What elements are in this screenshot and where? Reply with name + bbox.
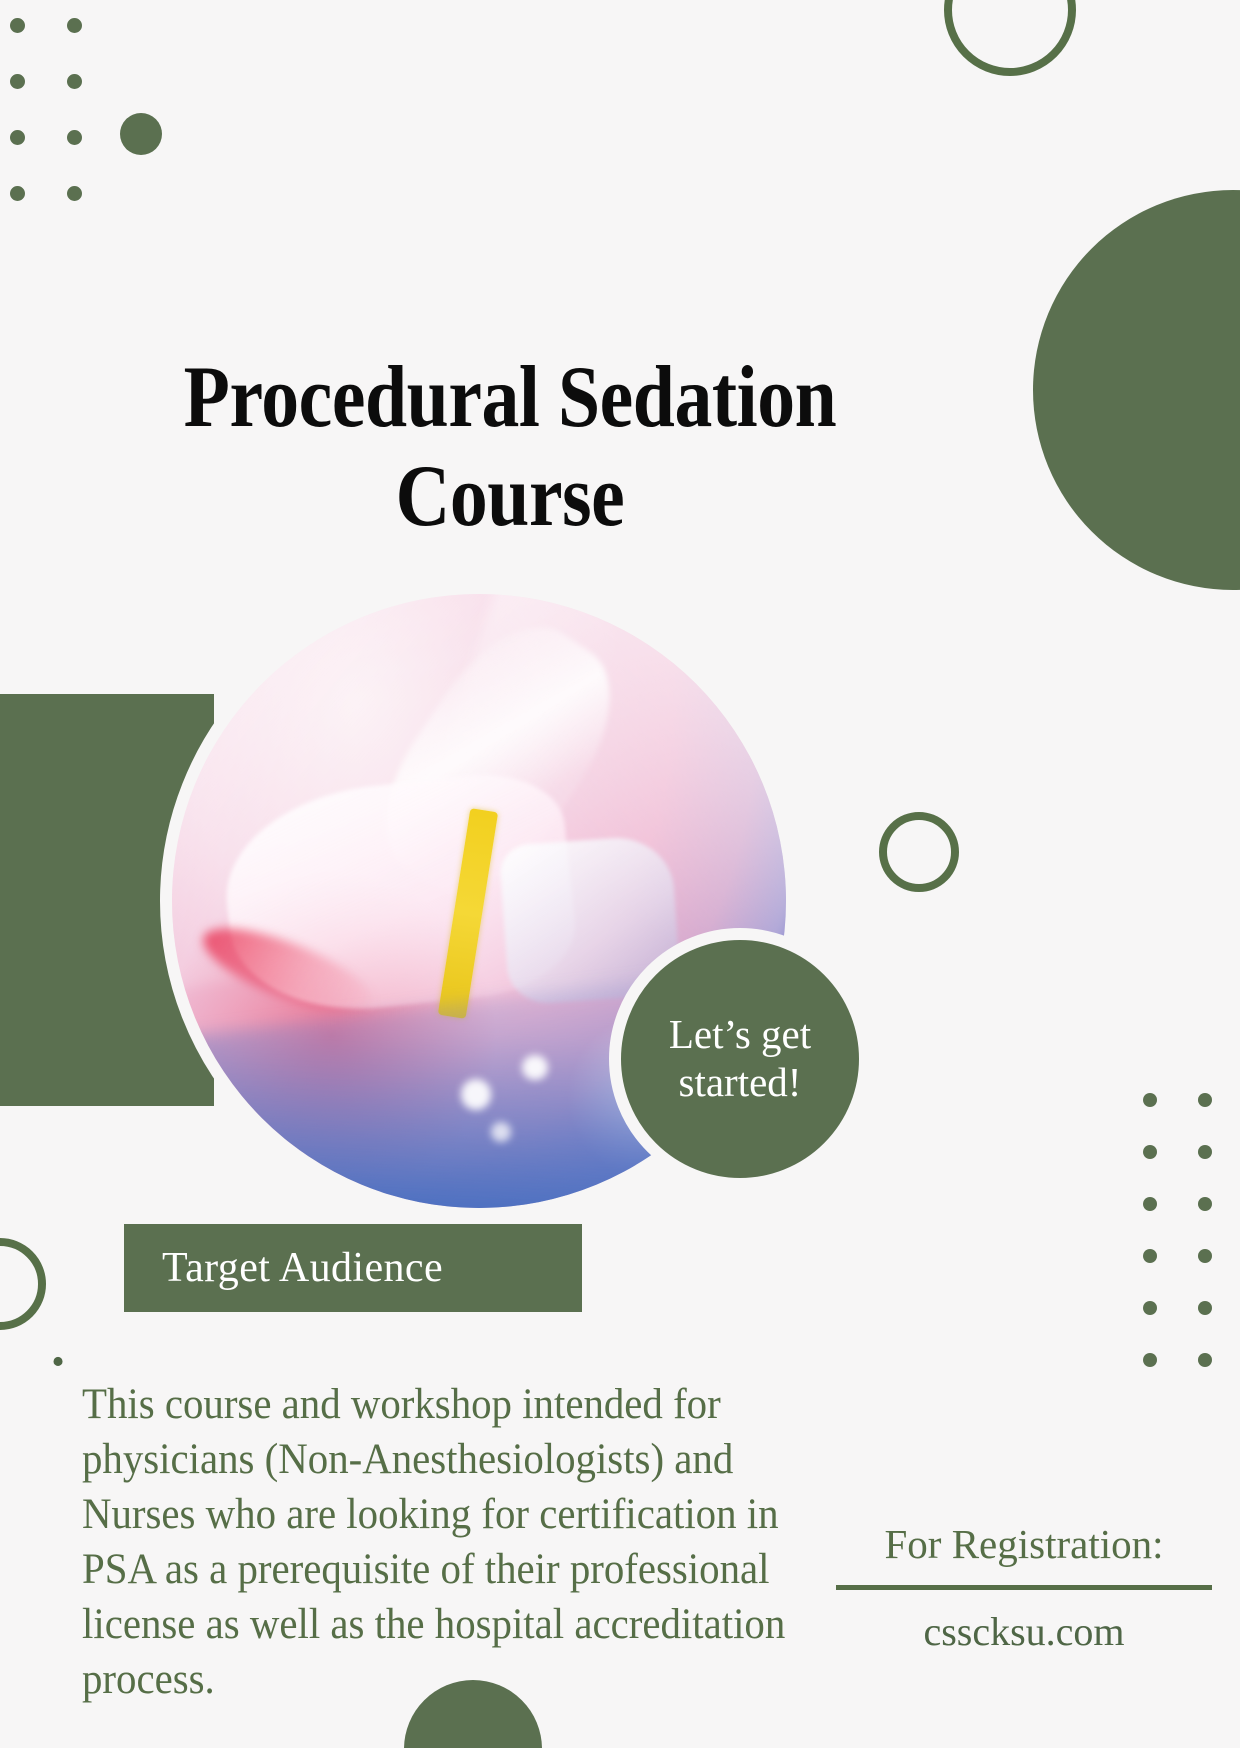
registration-label: For Registration: xyxy=(836,1520,1212,1579)
dot-grid-top-left xyxy=(10,18,124,242)
page-title: Procedural Sedation Course xyxy=(132,349,889,546)
decor-dot xyxy=(67,186,82,201)
decor-circle-top-left xyxy=(120,113,162,155)
decor-dot xyxy=(10,186,25,201)
dot-grid-right xyxy=(1143,1093,1240,1405)
decor-dot xyxy=(1198,1093,1212,1107)
decor-dot xyxy=(67,74,82,89)
decor-dot xyxy=(1198,1197,1212,1211)
decor-ring-right-middle xyxy=(879,812,959,892)
decor-dot xyxy=(1143,1197,1157,1211)
decor-dot xyxy=(1198,1249,1212,1263)
decor-dot xyxy=(67,130,82,145)
bullet-marker-icon: • xyxy=(34,1334,82,1390)
decor-dot xyxy=(10,130,25,145)
registration-block: For Registration: csscksu.com xyxy=(836,1520,1212,1656)
decor-ring-bottom-left xyxy=(0,1238,46,1330)
decor-ring-top-right xyxy=(944,0,1076,76)
decor-dot xyxy=(10,18,25,33)
target-audience-banner: Target Audience xyxy=(124,1224,582,1312)
registration-url[interactable]: csscksu.com xyxy=(836,1608,1212,1656)
registration-divider xyxy=(836,1585,1212,1590)
decor-dot xyxy=(1143,1145,1157,1159)
decor-dot xyxy=(1198,1301,1212,1315)
audience-bullet-item: • This course and workshop intended for … xyxy=(34,1334,834,1748)
decor-dot xyxy=(1198,1145,1212,1159)
lets-get-started-badge[interactable]: Let’s get started! xyxy=(609,928,871,1190)
decor-dot xyxy=(1143,1353,1157,1367)
section-heading: Target Audience xyxy=(124,1244,443,1292)
badge-label: Let’s get started! xyxy=(621,1011,859,1106)
decor-dot xyxy=(1198,1353,1212,1367)
photo-bokeh xyxy=(522,1055,548,1081)
decor-circle-right-large xyxy=(1033,190,1240,590)
decor-dot xyxy=(1143,1093,1157,1107)
decor-dot xyxy=(1143,1249,1157,1263)
poster-canvas: Procedural Sedation Course Let’s get sta… xyxy=(0,0,1240,1748)
audience-body-text: This course and workshop intended for ph… xyxy=(82,1377,793,1707)
decor-dot xyxy=(67,18,82,33)
decor-dot xyxy=(1143,1301,1157,1315)
photo-bokeh xyxy=(461,1079,492,1110)
photo-bokeh xyxy=(491,1122,511,1142)
decor-dot xyxy=(10,74,25,89)
